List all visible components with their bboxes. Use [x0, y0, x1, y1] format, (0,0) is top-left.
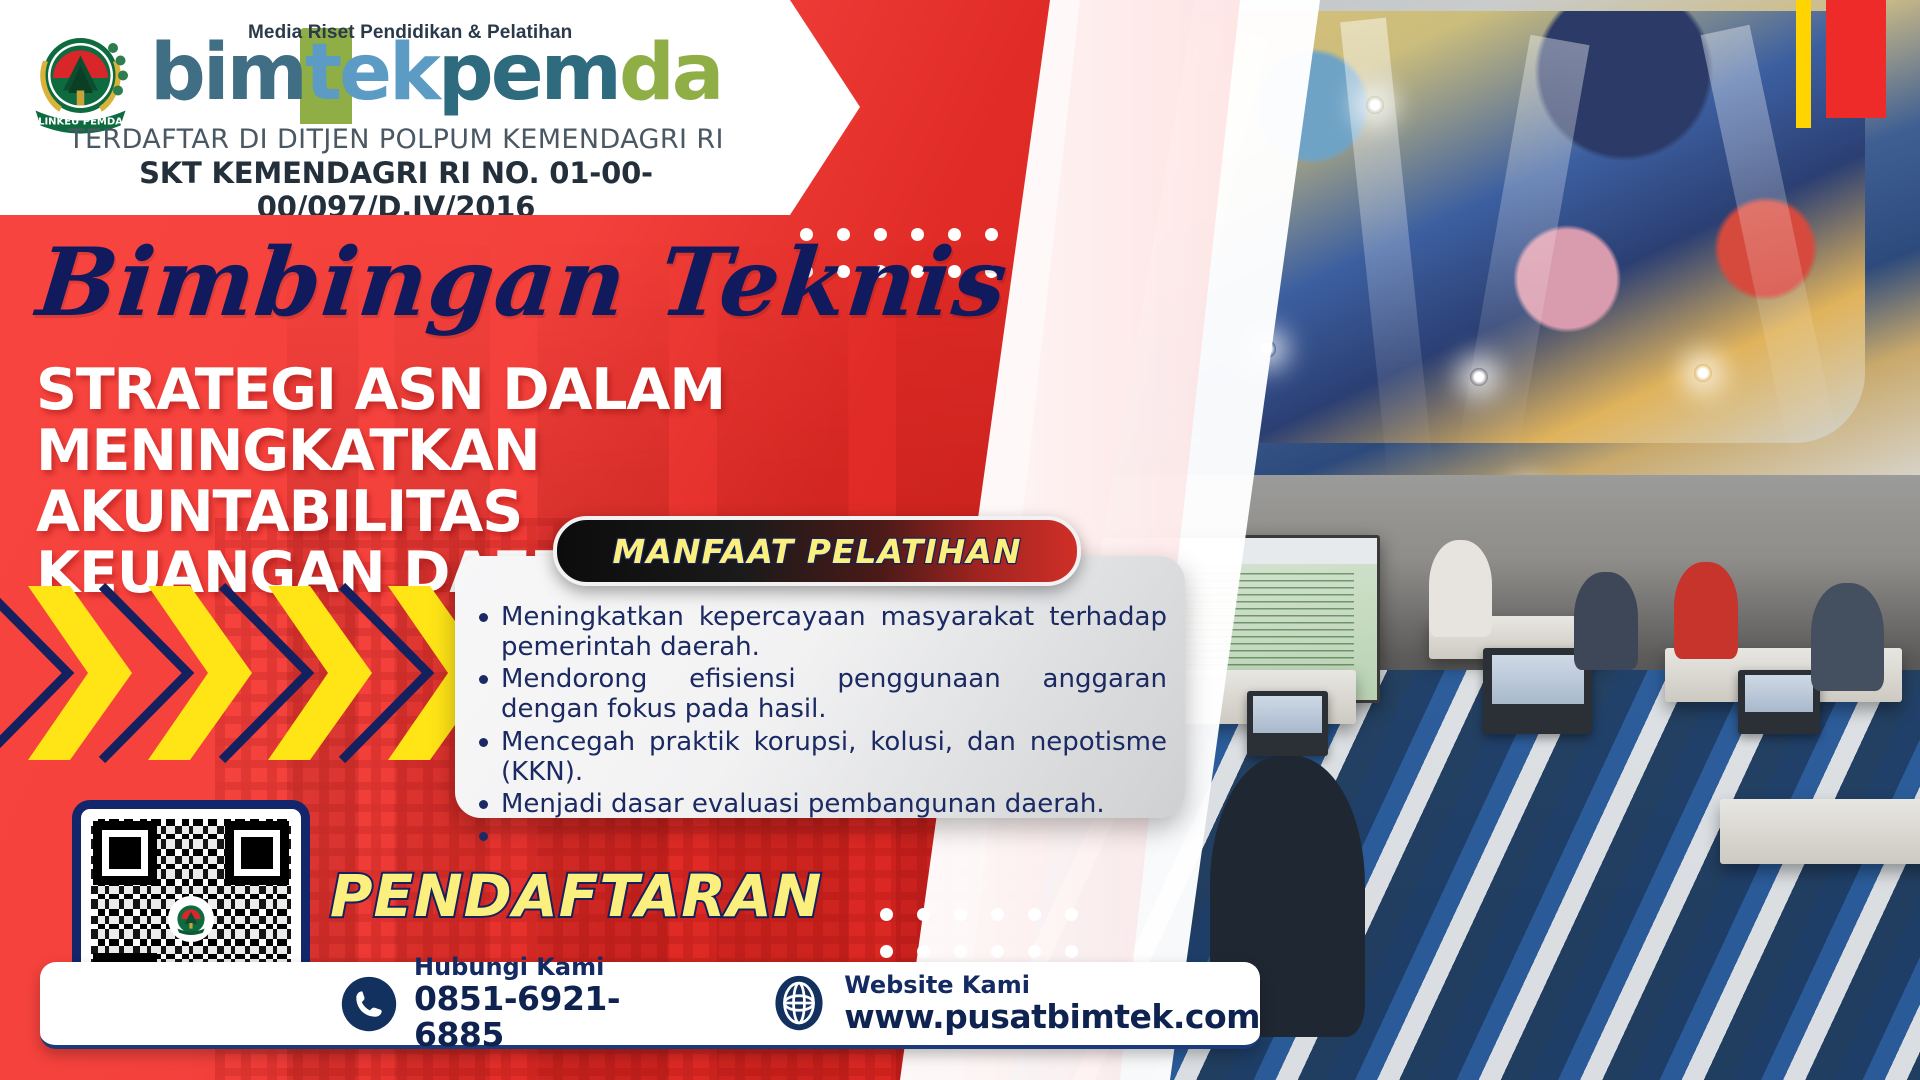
contact-phone-label: Hubungi Kami [414, 954, 650, 981]
ceiling-lamp [1366, 96, 1384, 114]
contact-website-text: Website Kami www.pusatbimtek.com [844, 972, 1260, 1035]
benefits-list: Meningkatkan kepercayaan masyarakat terh… [475, 602, 1167, 837]
laptop [1738, 670, 1820, 735]
contact-website-label: Website Kami [844, 972, 1260, 999]
dot-pattern-bottom [880, 908, 1078, 958]
registration-line-1: TERDAFTAR DI DITJEN POLPUM KEMENDAGRI RI [16, 124, 776, 155]
contact-bar: Hubungi Kami 0851-6921-6885 Website Kami… [40, 962, 1260, 1049]
phone-icon [340, 975, 398, 1033]
logo-tek: tek [305, 28, 438, 118]
contact-phone-value: 0851-6921-6885 [414, 981, 650, 1054]
poster-canvas: LINKEU PEMDA Media Riset Pendidikan & Pe… [0, 0, 1920, 1080]
participant-table [1720, 799, 1920, 864]
title-line-1: STRATEGI ASN DALAM [36, 360, 896, 421]
laptop [1247, 691, 1329, 756]
participant [1574, 572, 1638, 669]
deco-bar-red [1826, 0, 1886, 118]
benefits-badge: MANFAAT PELATIHAN [553, 516, 1081, 586]
qr-finder-top-right [225, 821, 289, 885]
bimtek-pemda-logo: Media Riset Pendidikan & Pelatihan bimte… [150, 22, 721, 110]
brand-header: LINKEU PEMDA Media Riset Pendidikan & Pe… [0, 0, 860, 215]
ceiling-lamp [1470, 368, 1488, 386]
benefits-card: Meningkatkan kepercayaan masyarakat terh… [455, 556, 1185, 818]
presenter [1429, 540, 1493, 637]
logo-bim: bim [150, 28, 305, 118]
globe-icon [770, 974, 828, 1032]
deco-bar-yellow [1796, 0, 1811, 128]
list-item: Meningkatkan kepercayaan masyarakat terh… [501, 602, 1167, 662]
registration-line-2: SKT KEMENDAGRI RI NO. 01-00-00/097/D.IV/… [16, 156, 776, 224]
registration-heading: PENDAFTARAN [330, 862, 822, 930]
qr-center-emblem [168, 896, 214, 942]
list-item: Mendorong efisiensi penggunaan anggaran … [501, 664, 1167, 724]
participant [1674, 562, 1738, 659]
qr-finder-top-left [93, 821, 157, 885]
list-item: Mencegah praktik korupsi, kolusi, dan ne… [501, 727, 1167, 787]
list-item: Menjadi dasar evaluasi pembangunan daera… [501, 789, 1167, 819]
contact-website[interactable]: Website Kami www.pusatbimtek.com [770, 972, 1260, 1035]
contact-phone-text: Hubungi Kami 0851-6921-6885 [414, 954, 650, 1053]
chevron-decoration-group [0, 578, 430, 768]
contact-phone[interactable]: Hubungi Kami 0851-6921-6885 [340, 954, 650, 1053]
logo-wordmark: bimtekpemda [150, 38, 721, 110]
logo-da: da [619, 28, 721, 118]
benefits-badge-label: MANFAAT PELATIHAN [613, 532, 1022, 571]
ceiling-lamp [1694, 364, 1712, 382]
script-heading: Bimbingan Teknis [32, 228, 1013, 338]
list-item [501, 821, 1167, 835]
logo-pem: pem [438, 28, 619, 118]
linkeu-pemda-emblem-small [171, 899, 211, 939]
contact-website-value: www.pusatbimtek.com [844, 999, 1260, 1035]
participant [1811, 583, 1884, 691]
